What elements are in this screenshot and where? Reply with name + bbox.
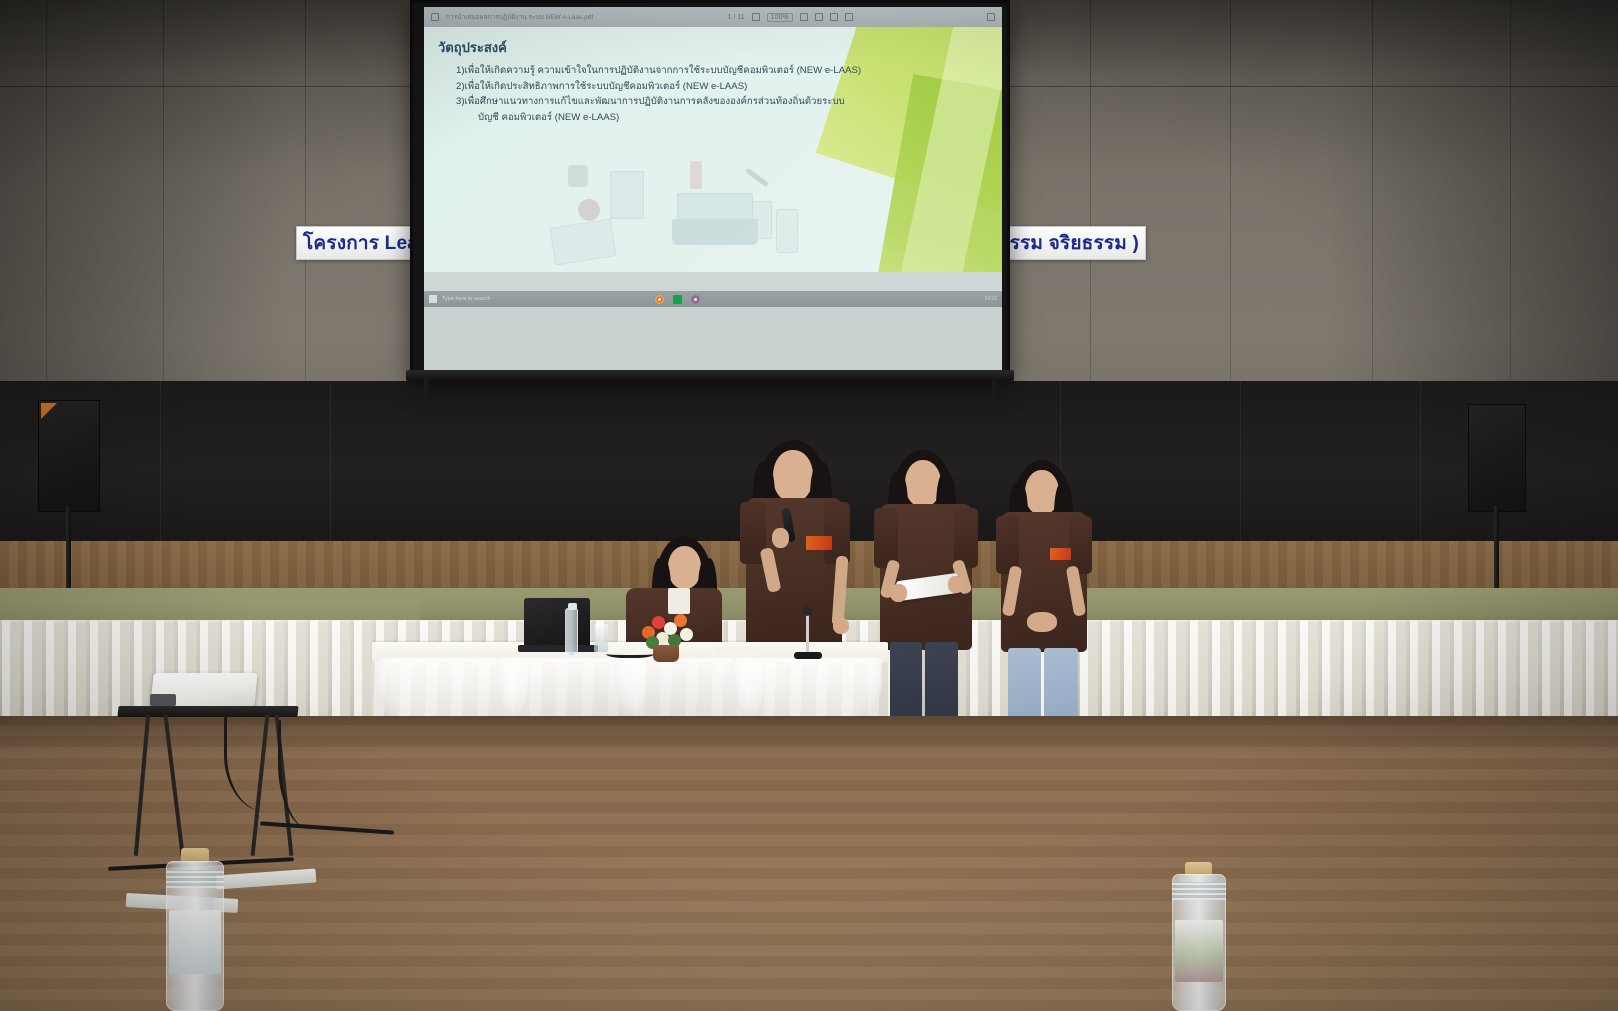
- bottle-cap: [568, 603, 577, 610]
- water-bottle: [565, 608, 578, 656]
- projection-screen: การนำเสนอผลการปฏิบัติงาน ระบบ NEW e-Laas…: [410, 0, 1010, 380]
- slide-heading: วัตถุประสงค์: [438, 37, 988, 58]
- zoom-in-icon[interactable]: [800, 13, 808, 21]
- projected-image: การนำเสนอผลการปฏิบัติงาน ระบบ NEW e-Laas…: [424, 7, 1002, 307]
- presentation-slide: วัตถุประสงค์ 1)เพื่อให้เกิดความรู้ ความเ…: [424, 27, 1002, 272]
- screen-blank-area: [424, 307, 1002, 377]
- uniform-logo-patch: [1050, 548, 1071, 560]
- water-bottle-left: [166, 848, 224, 1011]
- taskbar-search-input[interactable]: Type here to search: [442, 296, 491, 302]
- desk-microphone-base: [794, 652, 822, 659]
- pdf-zoom-level[interactable]: 100%: [767, 13, 793, 22]
- pa-speaker-left: [38, 400, 100, 512]
- chrome-icon[interactable]: [655, 295, 664, 304]
- conference-hall-photo: โครงการ Lea รรม จริยธรรม ) การนำเสนอผลกา…: [0, 0, 1618, 1011]
- windows-start-icon[interactable]: [429, 295, 437, 303]
- more-icon[interactable]: [987, 13, 995, 21]
- hand: [833, 618, 849, 634]
- slide-bullet-continuation: บัญชี คอมพิวเตอร์ (NEW e-LAAS): [438, 110, 988, 126]
- inner-collar: [668, 588, 690, 614]
- zoom-out-icon[interactable]: [752, 13, 760, 21]
- laptop: [524, 598, 590, 648]
- pa-speaker-right: [1468, 404, 1526, 512]
- uniform-logo-patch: [806, 536, 832, 550]
- hand: [772, 528, 789, 548]
- slide-bullet: 2)เพื่อให้เกิดประสิทธิภาพการใช้ระบบบัญชี…: [438, 79, 988, 95]
- bottle-label: [1175, 920, 1223, 982]
- hand: [890, 584, 907, 602]
- head: [668, 546, 701, 589]
- projector-lens: [150, 694, 176, 706]
- menu-icon[interactable]: [431, 13, 439, 21]
- system-tray-clock: 14:32: [984, 296, 997, 302]
- water-bottle-right: [1172, 862, 1226, 1011]
- slide-bullet: 1)เพื่อให้เกิดความรู้ ความเข้าใจในการปฏิ…: [438, 63, 988, 79]
- screen-support-arm: [424, 374, 428, 400]
- pdf-document-title: การนำเสนอผลการปฏิบัติงาน ระบบ NEW e-Laas…: [446, 12, 593, 22]
- bottle-ribs: [1172, 882, 1226, 900]
- shirt-sleeve: [874, 508, 898, 568]
- taskbar-app-icons[interactable]: [655, 295, 700, 304]
- hand: [1027, 612, 1057, 632]
- papers-on-table: [714, 646, 760, 656]
- shirt-sleeve: [824, 502, 850, 564]
- event-banner-left: โครงการ Lea: [296, 226, 424, 260]
- head: [773, 450, 813, 502]
- print-icon[interactable]: [815, 13, 823, 21]
- speaker-stand-pole-left: [66, 506, 71, 598]
- speaker-corner-marker: [41, 403, 57, 419]
- fit-page-icon[interactable]: [845, 13, 853, 21]
- desk-microphone: [802, 606, 812, 616]
- windows-taskbar[interactable]: Type here to search 14:32: [424, 291, 1002, 307]
- shirt-sleeve: [954, 508, 978, 568]
- desk-microphone-stand: [806, 612, 809, 656]
- bottle-ribs: [166, 870, 224, 888]
- download-icon[interactable]: [830, 13, 838, 21]
- chrome-icon[interactable]: [691, 295, 700, 304]
- event-banner-right: รรม จริยธรรม ): [996, 226, 1146, 260]
- slide-bullet: 3)เพื่อศึกษาแนวทางการแก้ไขและพัฒนาการปฏิ…: [438, 94, 988, 110]
- excel-icon[interactable]: [673, 295, 682, 304]
- speaker-stand-pole-right: [1494, 506, 1499, 598]
- screen-support-arm: [992, 374, 996, 400]
- pdf-viewer-toolbar[interactable]: การนำเสนอผลการปฏิบัติงาน ระบบ NEW e-Laas…: [424, 7, 1002, 27]
- flower-vase: [653, 645, 679, 662]
- laptop-base: [518, 645, 598, 652]
- pdf-page-indicator: 1 / 11: [728, 14, 745, 21]
- bottle-label: [169, 910, 220, 974]
- screen-bottom-bar: [406, 370, 1014, 381]
- hand: [948, 576, 964, 593]
